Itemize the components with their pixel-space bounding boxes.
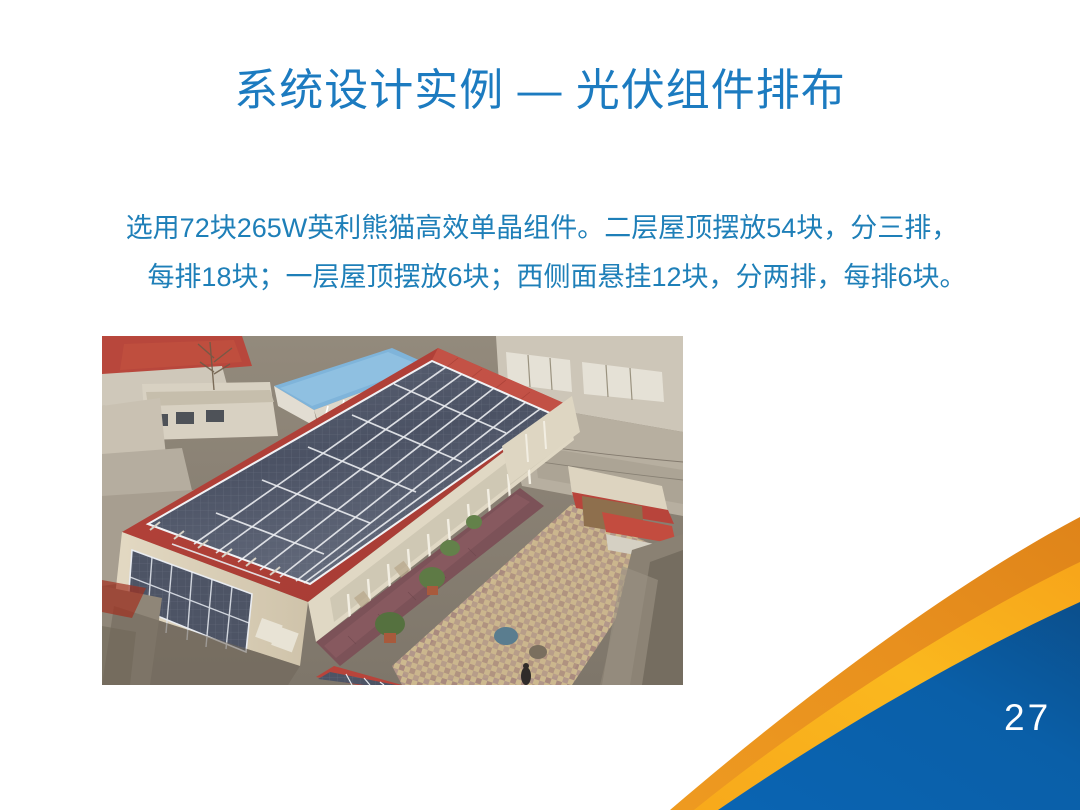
corner-swoosh-decoration — [660, 430, 1080, 810]
corner-swoosh-graphic — [660, 430, 1080, 810]
page-title: 系统设计实例 — 光伏组件排布 — [0, 62, 1080, 120]
presentation-slide: 系统设计实例 — 光伏组件排布 选用72块265W英利熊猫高效单晶组件。二层屋顶… — [0, 0, 1080, 810]
page-number: 27 — [1004, 698, 1051, 738]
body-paragraph: 选用72块265W英利熊猫高效单晶组件。二层屋顶摆放54块，分三排， 每排18块… — [52, 204, 1032, 302]
corner-band-orange — [670, 517, 1080, 810]
body-line-2: 每排18块；一层屋顶摆放6块；西侧面悬挂12块，分两排，每排6块。 — [52, 253, 1032, 302]
corner-band-yellow — [694, 562, 1080, 810]
photo-graphic — [102, 336, 683, 685]
body-line-1: 选用72块265W英利熊猫高效单晶组件。二层屋顶摆放54块，分三排， — [52, 204, 1032, 253]
rooftop-solar-photo — [102, 336, 683, 685]
